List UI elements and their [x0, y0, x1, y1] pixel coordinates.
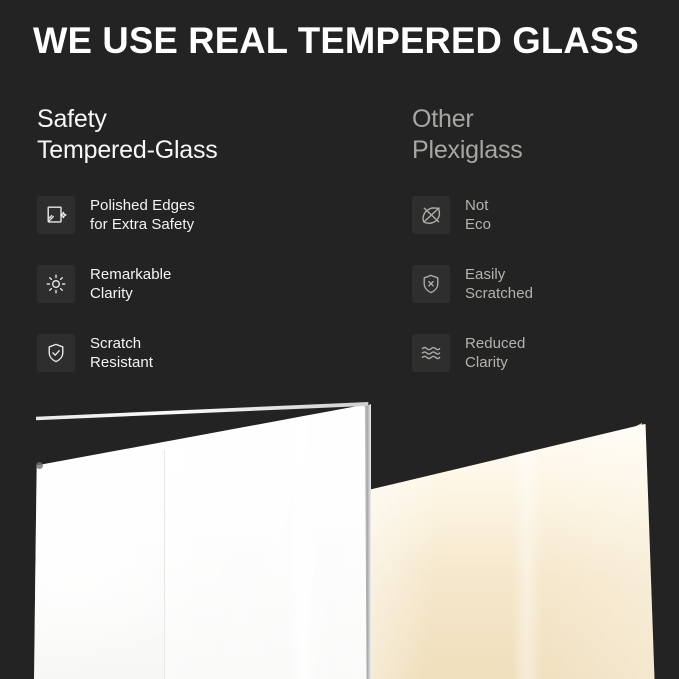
feature-label: Not Eco: [465, 196, 491, 235]
tempered-glass-panel-inner-reflection: [164, 450, 368, 679]
tempered-glass-panel-corner-marker: [36, 462, 43, 469]
page-title: WE USE REAL TEMPERED GLASS: [33, 20, 644, 62]
feature-label: Polished Edges for Extra Safety: [90, 196, 195, 235]
feature-not-eco: Not Eco: [412, 193, 674, 237]
wavy-lines-icon: [412, 334, 450, 372]
feature-label: Remarkable Clarity: [90, 265, 171, 304]
feature-easily-scratched: Easily Scratched: [412, 262, 674, 306]
tempered-glass-panel: [34, 403, 368, 679]
tempered-glass-panel-reflection: [288, 403, 318, 679]
plexiglass-panel-reflection: [512, 416, 542, 679]
column-plexiglass: Other Plexiglass Not Eco: [412, 104, 674, 400]
feature-label: Scratch Resistant: [90, 334, 153, 373]
shield-x-icon: [412, 265, 450, 303]
feature-polished-edges: Polished Edges for Extra Safety: [37, 193, 367, 237]
shield-check-icon: [37, 334, 75, 372]
plexiglass-panel: [368, 416, 668, 679]
column-heading-tempered-glass: Safety Tempered-Glass: [37, 104, 367, 166]
feature-label: Easily Scratched: [465, 265, 533, 304]
product-photo: [0, 398, 679, 679]
comparison-infographic: WE USE REAL TEMPERED GLASS Safety Temper…: [0, 0, 679, 679]
polished-edge-icon: [37, 196, 75, 234]
feature-list-plexiglass: Not Eco Easily Scratched: [412, 193, 674, 375]
feature-scratch-resistant: Scratch Resistant: [37, 331, 367, 375]
feature-label: Reduced Clarity: [465, 334, 525, 373]
leaf-crossed-out-icon: [412, 196, 450, 234]
feature-reduced-clarity: Reduced Clarity: [412, 331, 674, 375]
column-tempered-glass: Safety Tempered-Glass Polished Edges for…: [37, 104, 367, 400]
feature-list-tempered-glass: Polished Edges for Extra Safety Remarkab…: [37, 193, 367, 375]
brightness-sun-icon: [37, 265, 75, 303]
column-heading-plexiglass: Other Plexiglass: [412, 104, 674, 166]
feature-remarkable-clarity: Remarkable Clarity: [37, 262, 367, 306]
